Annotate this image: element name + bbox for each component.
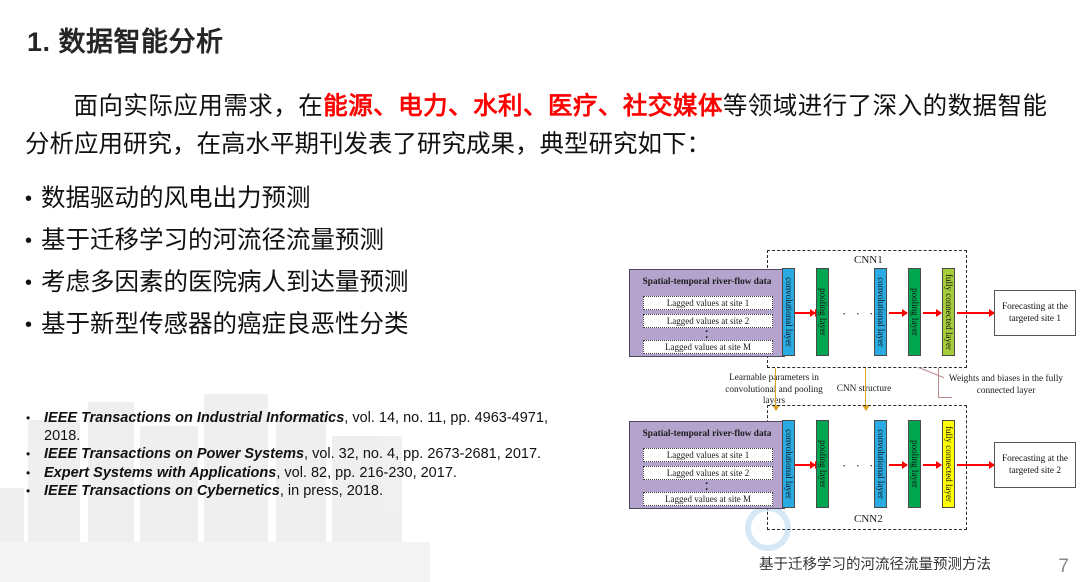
reference-detail: , vol. 82, pp. 216-230, 2017.: [276, 465, 457, 481]
cnn-transfer-learning-diagram: CNN1 Spatial-temporal river-flow data La…: [612, 246, 1082, 541]
reference-journal: IEEE Transactions on Power Systems: [44, 446, 304, 462]
cnn2-pooling-layer-1: pooling layer: [816, 420, 829, 508]
reference-journal: IEEE Transactions on Industrial Informat…: [44, 410, 344, 426]
reference-entry: IEEE Transactions on Industrial Informat…: [44, 410, 556, 445]
list-item-label: 基于新型传感器的癌症良恶性分类: [41, 304, 409, 346]
list-item: • IEEE Transactions on Industrial Inform…: [26, 410, 556, 445]
page-title: 1. 数据智能分析: [27, 20, 224, 59]
list-item-label: 考虑多因素的医院病人到达量预测: [41, 262, 409, 304]
cnn1-site-m: Lagged values at site M: [643, 340, 773, 354]
cnn2-fc-label: fully connected layer: [944, 426, 954, 502]
cnn1-site-1: Lagged values at site 1: [643, 296, 773, 310]
cnn1-fc-label: fully connected layer: [944, 274, 954, 350]
cnn2-group-label: CNN2: [854, 513, 883, 525]
cnn2-pool1-label: pooling layer: [818, 440, 828, 488]
connector-center-arrow-icon: [865, 368, 866, 406]
reference-entry: Expert Systems with Applications, vol. 8…: [44, 465, 556, 483]
list-item: • IEEE Transactions on Power Systems, vo…: [26, 446, 556, 464]
cnn2-convolutional-layer-2: convolutional layer: [874, 420, 887, 508]
paragraph-part-1: 面向实际应用需求，在: [73, 93, 323, 120]
cnn1-data-title: Spatial-temporal river-flow data: [630, 277, 784, 287]
bullet-marker-icon: •: [26, 465, 44, 483]
cnn1-convolutional-layer-2: convolutional layer: [874, 268, 887, 356]
slide-canvas: 1. 数据智能分析 面向实际应用需求，在能源、电力、水利、医疗、社交媒体等领域进…: [0, 0, 1091, 582]
list-item: • 基于新型传感器的癌症良恶性分类: [25, 304, 605, 346]
cnn2-site-m: Lagged values at site M: [643, 492, 773, 506]
list-item: • 考虑多因素的医院病人到达量预测: [25, 262, 605, 304]
annotation-weights-biases: Weights and biases in the fully connecte…: [942, 374, 1070, 397]
cnn1-output-box: Forecasting at the targeted site 1: [994, 290, 1076, 336]
cnn2-fully-connected-layer: fully connected layer: [942, 420, 955, 508]
cnn2-ellipsis: · · ·: [842, 458, 877, 474]
cnn1-ellipsis: · · ·: [842, 306, 877, 322]
reference-entry: IEEE Transactions on Power Systems, vol.…: [44, 446, 556, 464]
reference-list: • IEEE Transactions on Industrial Inform…: [26, 410, 556, 502]
bullet-marker-icon: •: [26, 483, 44, 501]
cnn1-pool1-label: pooling layer: [818, 288, 828, 336]
bullet-marker-icon: •: [25, 304, 41, 346]
cnn1-arrow-2: [889, 312, 907, 314]
cnn2-conv2-label: convolutional layer: [876, 429, 886, 499]
reference-journal: Expert Systems with Applications: [44, 465, 276, 481]
connector-right-vertical: [938, 368, 939, 398]
cnn1-pool2-label: pooling layer: [910, 288, 920, 336]
cnn1-arrow-1: [797, 312, 815, 314]
cnn2-arrow-3: [923, 464, 941, 466]
reference-journal: IEEE Transactions on Cybernetics: [44, 483, 280, 499]
connector-right-horizontal: [938, 397, 952, 398]
cnn2-arrow-output: [957, 464, 994, 466]
list-item: • Expert Systems with Applications, vol.…: [26, 465, 556, 483]
cnn2-conv1-label: convolutional layer: [784, 429, 794, 499]
cnn1-group: CNN1 Spatial-temporal river-flow data La…: [612, 246, 1082, 368]
cnn1-group-label: CNN1: [854, 254, 883, 266]
cnn1-input-data-block: Spatial-temporal river-flow data Lagged …: [629, 269, 785, 357]
cnn1-arrow-3: [923, 312, 941, 314]
cnn2-arrow-2: [889, 464, 907, 466]
list-item: • 基于迁移学习的河流径流量预测: [25, 220, 605, 262]
cnn2-site-1: Lagged values at site 1: [643, 448, 773, 462]
cnn1-pooling-layer-2: pooling layer: [908, 268, 921, 356]
reference-detail: , vol. 32, no. 4, pp. 2673-2681, 2017.: [304, 446, 541, 462]
cnn1-conv1-label: convolutional layer: [784, 277, 794, 347]
connector-right-diagonal: [918, 367, 944, 379]
cnn1-convolutional-layer-1: convolutional layer: [782, 268, 795, 356]
list-item: • IEEE Transactions on Cybernetics, in p…: [26, 483, 556, 501]
intro-paragraph: 面向实际应用需求，在能源、电力、水利、医疗、社交媒体等领域进行了深入的数据智能分…: [25, 88, 1047, 164]
cnn2-input-data-block: Spatial-temporal river-flow data Lagged …: [629, 421, 785, 509]
connector-left-arrow-icon: [775, 368, 776, 406]
bullet-marker-icon: •: [25, 262, 41, 304]
reference-entry: IEEE Transactions on Cybernetics, in pre…: [44, 483, 556, 501]
list-item: • 数据驱动的风电出力预测: [25, 178, 605, 220]
bullet-marker-icon: •: [25, 220, 41, 262]
cnn2-data-title: Spatial-temporal river-flow data: [630, 429, 784, 439]
cnn2-convolutional-layer-1: convolutional layer: [782, 420, 795, 508]
list-item-label: 基于迁移学习的河流径流量预测: [41, 220, 384, 262]
page-number: 7: [1058, 556, 1069, 578]
list-item-label: 数据驱动的风电出力预测: [41, 178, 311, 220]
cnn2-arrow-1: [797, 464, 815, 466]
annotation-cnn-structure: CNN structure: [808, 384, 920, 396]
topic-bullet-list: • 数据驱动的风电出力预测 • 基于迁移学习的河流径流量预测 • 考虑多因素的医…: [25, 178, 605, 346]
cnn1-fully-connected-layer: fully connected layer: [942, 268, 955, 356]
bullet-marker-icon: •: [25, 178, 41, 220]
paragraph-highlight: 能源、电力、水利、医疗、社交媒体: [323, 93, 723, 120]
bullet-marker-icon: •: [26, 410, 44, 428]
reference-detail: , in press, 2018.: [280, 483, 383, 499]
cnn2-output-box: Forecasting at the targeted site 2: [994, 442, 1076, 488]
cnn2-group: CNN2 Spatial-temporal river-flow data La…: [612, 408, 1082, 530]
figure-caption: 基于迁移学习的河流径流量预测方法: [759, 553, 991, 574]
cnn2-pooling-layer-2: pooling layer: [908, 420, 921, 508]
cnn1-pooling-layer-1: pooling layer: [816, 268, 829, 356]
cnn1-conv2-label: convolutional layer: [876, 277, 886, 347]
cnn2-pool2-label: pooling layer: [910, 440, 920, 488]
cnn1-arrow-output: [957, 312, 994, 314]
bullet-marker-icon: •: [26, 446, 44, 464]
